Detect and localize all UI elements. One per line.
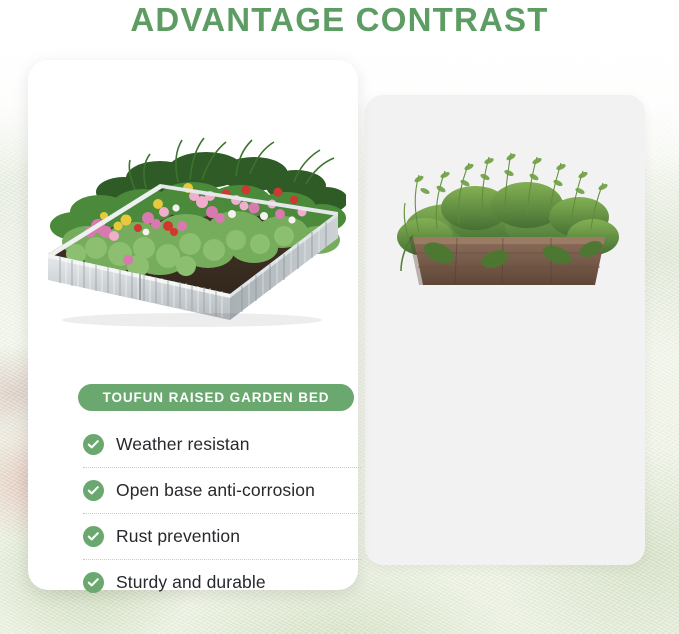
- ordinary-planting-bed-card: ORDINARY PLANTING BED Easy to damage Bre…: [365, 95, 645, 565]
- check-icon: [83, 572, 104, 593]
- wooden-planter-box-image: [379, 113, 631, 293]
- raised-garden-bed-image: [40, 108, 346, 328]
- check-icon: [83, 480, 104, 501]
- toufun-raised-garden-bed-badge: TOUFUN RAISED GARDEN BED: [78, 384, 354, 411]
- list-item-label: Sturdy and durable: [116, 572, 266, 593]
- check-icon: [83, 434, 104, 455]
- list-item: Weather resistan: [83, 422, 361, 467]
- list-item-label: Rust prevention: [116, 526, 240, 547]
- toufun-raised-garden-bed-card: TOUFUN RAISED GARDEN BED Weather resista…: [28, 60, 358, 590]
- infographic-canvas: ADVANTAGE CONTRAST: [0, 0, 679, 634]
- page-title: ADVANTAGE CONTRAST: [0, 1, 679, 39]
- advantage-list: Weather resistan Open base anti-corrosio…: [83, 422, 361, 605]
- list-item-label: Open base anti-corrosion: [116, 480, 315, 501]
- list-item: Open base anti-corrosion: [83, 467, 361, 513]
- list-item-label: Weather resistan: [116, 434, 250, 455]
- list-item: Rust prevention: [83, 513, 361, 559]
- check-icon: [83, 526, 104, 547]
- list-item: Sturdy and durable: [83, 559, 361, 605]
